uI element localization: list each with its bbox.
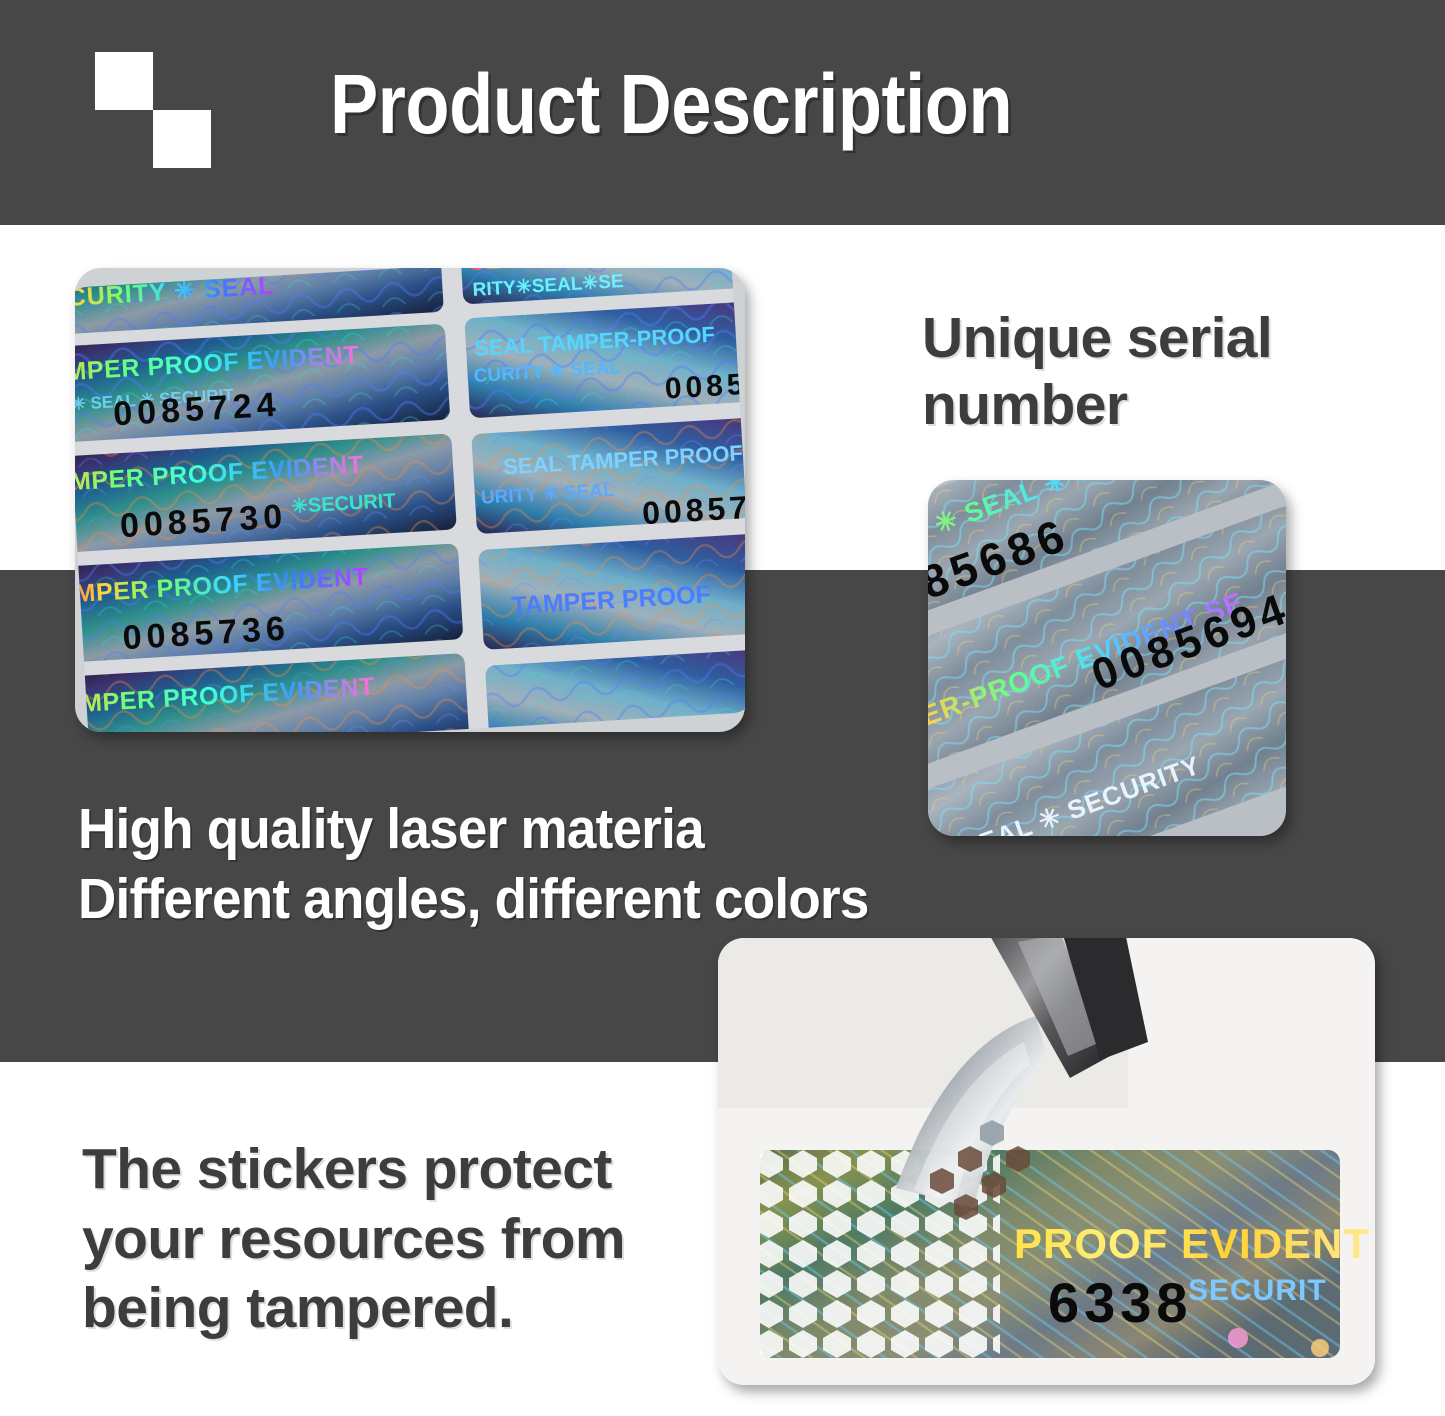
tamper-peel-demo-photo: PROOF EVIDENT SECURIT 6338 — [718, 938, 1375, 1385]
serial-number-closeup-photo: ER-PROOF ✳ SEAL ✳ SECURITY SEAL 0085686 … — [928, 480, 1286, 836]
laser-material-line-2: Different angles, different colors — [78, 865, 1064, 935]
svg-text:008573: 008573 — [641, 488, 745, 532]
tamper-peel-illustration: PROOF EVIDENT SECURIT 6338 — [718, 938, 1375, 1385]
svg-text:6338: 6338 — [1048, 1271, 1193, 1334]
logo-square-top — [95, 52, 153, 110]
svg-text:SECURIT: SECURIT — [1188, 1274, 1327, 1307]
holographic-label-sheet-photo: SECURITY ✳ SEAL TAMPER PROOF EVIDENT ITY… — [75, 268, 745, 732]
protect-line-1: The stickers protect — [82, 1135, 732, 1205]
label-sheet-illustration: SECURITY ✳ SEAL TAMPER PROOF EVIDENT ITY… — [75, 268, 745, 732]
svg-text:PROOF EVIDENT: PROOF EVIDENT — [1014, 1220, 1370, 1267]
protect-line-3: being tampered. — [82, 1274, 732, 1344]
logo-square-bottom — [153, 110, 211, 168]
unique-serial-callout: Unique serial number — [922, 305, 1392, 440]
laser-material-line-1: High quality laser materia — [78, 795, 1064, 865]
offset-squares-logo-icon — [95, 52, 215, 162]
unique-serial-line-2: number — [922, 372, 1392, 439]
unique-serial-line-1: Unique serial — [922, 305, 1392, 372]
protect-callout: The stickers protect your resources from… — [82, 1135, 732, 1344]
protect-line-2: your resources from — [82, 1205, 732, 1275]
laser-material-callout: High quality laser materia Different ang… — [78, 795, 1064, 934]
svg-text:00857: 00857 — [664, 367, 745, 406]
page-title: Product Description — [330, 60, 1012, 148]
serial-closeup-illustration: ER-PROOF ✳ SEAL ✳ SECURITY SEAL 0085686 … — [928, 480, 1286, 836]
